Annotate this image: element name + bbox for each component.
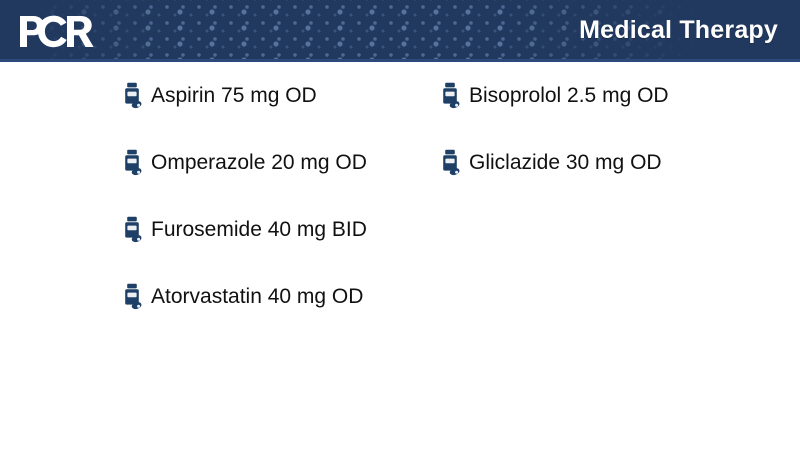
slide-body: Aspirin 75 mg OD	[0, 62, 800, 450]
medication-list-right: Bisoprolol 2.5 mg OD	[320, 62, 680, 330]
medication-list-left: Aspirin 75 mg OD	[0, 62, 320, 330]
slide-header: Medical Therapy	[0, 0, 800, 62]
list-item[interactable]: Atorvastatin 40 mg OD	[122, 263, 320, 330]
pill-bottle-icon	[440, 81, 462, 111]
pcr-logo-icon[interactable]	[18, 13, 100, 51]
slide: Medical Therapy	[0, 0, 800, 450]
list-item[interactable]: Gliclazide 30 mg OD	[440, 129, 680, 196]
pill-bottle-icon	[122, 282, 144, 312]
list-item[interactable]: Omperazole 20 mg OD	[122, 129, 320, 196]
list-item[interactable]: Bisoprolol 2.5 mg OD	[440, 62, 680, 129]
list-item[interactable]: Aspirin 75 mg OD	[122, 62, 320, 129]
page-title: Medical Therapy	[579, 0, 778, 60]
pill-bottle-icon	[122, 215, 144, 245]
medication-label: Bisoprolol 2.5 mg OD	[469, 85, 669, 106]
medication-label: Aspirin 75 mg OD	[151, 85, 317, 106]
list-item[interactable]: Furosemide 40 mg BID	[122, 196, 320, 263]
medication-label: Gliclazide 30 mg OD	[469, 152, 662, 173]
pill-bottle-icon	[122, 81, 144, 111]
medication-columns: Aspirin 75 mg OD	[0, 62, 800, 330]
pill-bottle-icon	[440, 148, 462, 178]
pill-bottle-icon	[122, 148, 144, 178]
